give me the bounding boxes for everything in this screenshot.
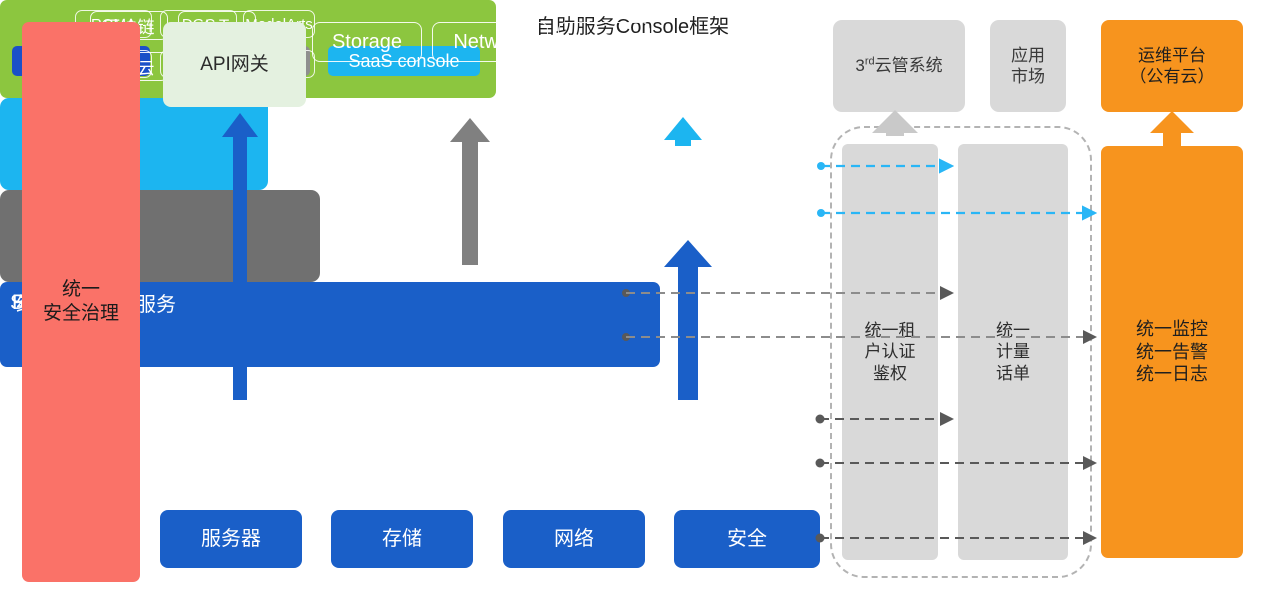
hardware-server-label: 服务器 [201, 527, 261, 552]
infra-chip-storage[interactable]: Storage [312, 22, 422, 62]
third-party-prefix: 3 [855, 56, 864, 75]
unified-tenant-auth-label: 统一租 户认证 鉴权 [865, 320, 916, 384]
ops-platform-body-label: 统一监控 统一告警 统一日志 [1136, 318, 1208, 386]
hardware-storage-box[interactable]: 存储 [331, 510, 473, 568]
unified-metering-column[interactable]: 统一 计量 话单 [958, 144, 1068, 560]
hardware-server-box[interactable]: 服务器 [160, 510, 302, 568]
third-party-cloud-mgmt-label: 3rd云管系统 [855, 55, 942, 76]
api-gateway-label: API网关 [200, 53, 269, 77]
ops-platform-body-box[interactable]: 统一监控 统一告警 统一日志 [1101, 146, 1243, 558]
hardware-network-label: 网络 [554, 527, 594, 552]
infra-chip-network[interactable]: Network [432, 22, 548, 62]
third-party-suffix: 云管系统 [875, 56, 943, 75]
infra-chip-cce[interactable]: CCE [558, 22, 650, 62]
hardware-security-box[interactable]: 安全 [674, 510, 820, 568]
unified-metering-label: 统一 计量 话单 [996, 320, 1030, 384]
ops-platform-header-label: 运维平台 （公有云） [1130, 45, 1215, 88]
arrow-ops-body-to-header [1150, 111, 1194, 146]
unified-tenant-auth-column[interactable]: 统一租 户认证 鉴权 [842, 144, 938, 560]
arrow-saas-to-console [664, 117, 702, 146]
unified-security-governance-label: 统一 安全治理 [43, 278, 119, 326]
hardware-storage-label: 存储 [382, 527, 422, 552]
api-gateway-box[interactable]: API网关 [163, 22, 306, 107]
app-market-label: 应用 市场 [1011, 45, 1045, 88]
hardware-network-box[interactable]: 网络 [503, 510, 645, 568]
unified-security-governance-panel[interactable]: 统一 安全治理 [22, 22, 140, 582]
hardware-security-label: 安全 [727, 527, 767, 552]
arrow-infra-to-saas [664, 240, 712, 400]
arrow-paas-to-console [450, 118, 490, 265]
app-market-box[interactable]: 应用 市场 [990, 20, 1066, 112]
third-party-cloud-mgmt-box[interactable]: 3rd云管系统 [833, 20, 965, 112]
ops-platform-header-box[interactable]: 运维平台 （公有云） [1101, 20, 1243, 112]
architecture-diagram: 统一 安全治理 API网关 自助服务Console框架 IaaS console… [0, 0, 1265, 605]
third-party-superscript: rd [865, 56, 875, 68]
